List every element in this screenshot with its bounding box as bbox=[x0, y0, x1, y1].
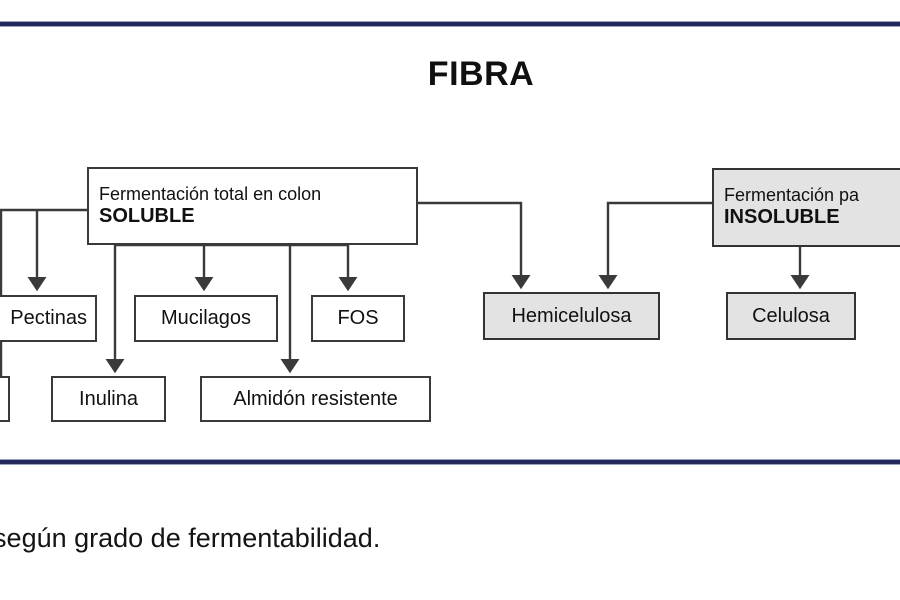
node-insoluble-line1: Fermentación pa bbox=[714, 185, 900, 206]
node-soluble-line1: Fermentación total en colon bbox=[89, 184, 416, 205]
node-fos-label: FOS bbox=[329, 307, 386, 330]
node-soluble-line2: SOLUBLE bbox=[89, 205, 416, 228]
node-mucilagos-label: Mucilagos bbox=[153, 307, 259, 330]
figure-page: FIBRA bbox=[0, 0, 900, 600]
node-almidon-resistente[interactable]: Almidón resistente bbox=[200, 376, 431, 422]
figure-caption: e la fibra según grado de fermentabilida… bbox=[0, 523, 782, 554]
bottom-divider-rule bbox=[0, 459, 900, 465]
node-pectinas[interactable]: Pectinas bbox=[0, 295, 97, 342]
node-hemicelulosa[interactable]: Hemicelulosa bbox=[483, 292, 660, 340]
node-pectinas-label: Pectinas bbox=[2, 307, 95, 330]
node-fos[interactable]: FOS bbox=[311, 295, 405, 342]
node-inulina[interactable]: Inulina bbox=[51, 376, 166, 422]
node-hemicelulosa-label: Hemicelulosa bbox=[503, 305, 639, 328]
node-soluble[interactable]: Fermentación total en colon SOLUBLE bbox=[87, 167, 418, 245]
node-mucilagos[interactable]: Mucilagos bbox=[134, 295, 278, 342]
node-celulosa[interactable]: Celulosa bbox=[726, 292, 856, 340]
node-almidon-resistente-label: Almidón resistente bbox=[225, 388, 406, 411]
node-insoluble-line2: INSOLUBLE bbox=[714, 206, 900, 229]
node-inulina-label: Inulina bbox=[71, 388, 146, 411]
node-celulosa-label: Celulosa bbox=[744, 305, 838, 328]
node-clipped-left-bottom[interactable] bbox=[0, 376, 10, 422]
node-insoluble[interactable]: Fermentación pa INSOLUBLE bbox=[712, 168, 900, 247]
